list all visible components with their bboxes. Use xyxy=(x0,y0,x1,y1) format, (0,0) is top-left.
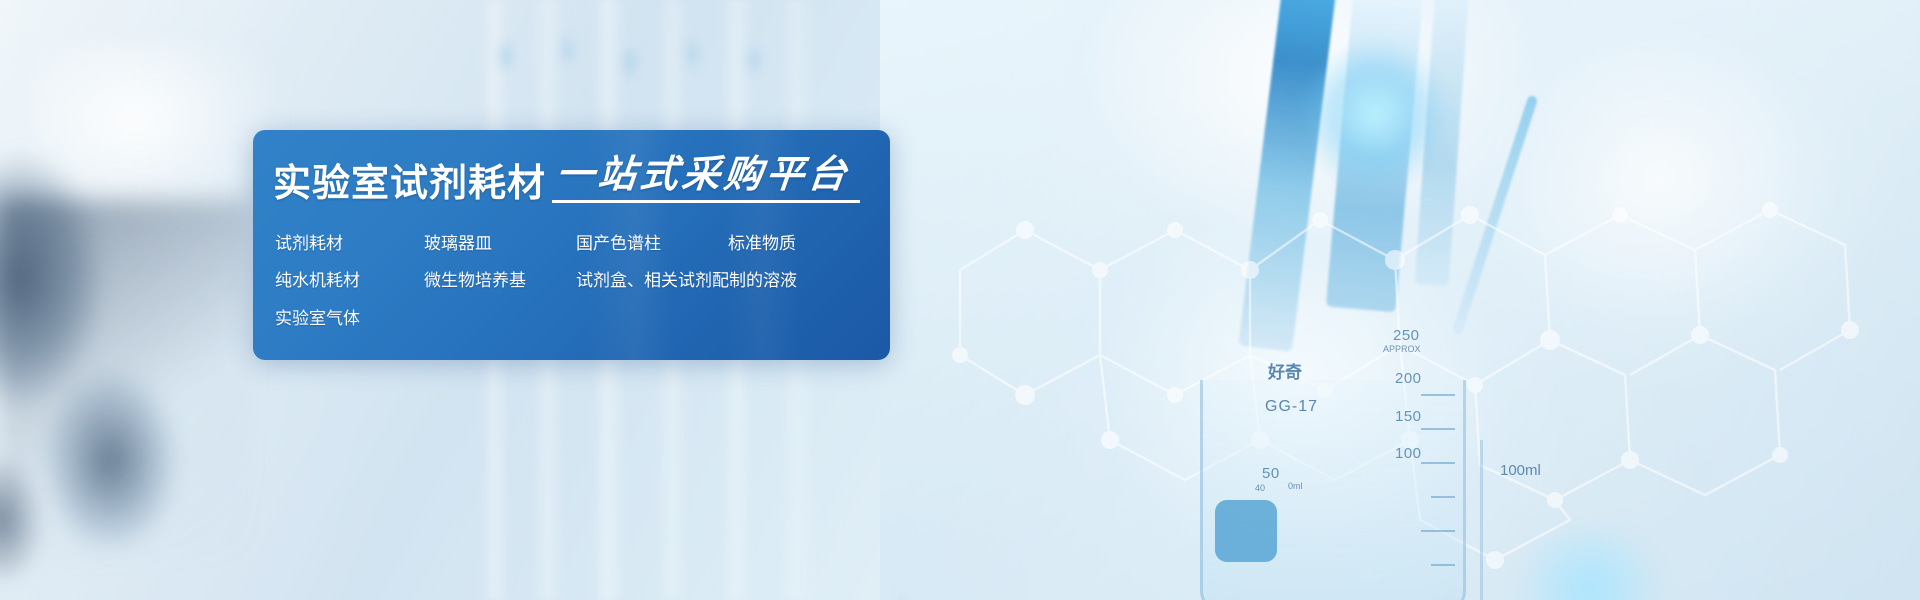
graduation-40: 40 xyxy=(1255,483,1265,493)
background-left-shadow xyxy=(0,200,250,560)
headline: 实验室试剂耗材 一站式采购平台 xyxy=(273,156,876,203)
graduation-200: 200 xyxy=(1395,370,1422,387)
background-tube-caps xyxy=(490,16,830,136)
link-reagent-consumables[interactable]: 试剂耗材 xyxy=(275,234,424,254)
link-row: 试剂耗材 玻璃器皿 国产色谱柱 标准物质 xyxy=(275,234,874,254)
headline-script-wrap: 一站式采购平台 xyxy=(556,156,850,203)
graduation-approx: APPROX xyxy=(1383,344,1421,354)
link-reference-materials[interactable]: 标准物质 xyxy=(728,234,796,254)
beaker-graduated xyxy=(1200,380,1466,600)
category-link-list: 试剂耗材 玻璃器皿 国产色谱柱 标准物质 纯水机耗材 微生物培养基 试剂盒、相关… xyxy=(275,234,874,346)
beaker-capacity-label: 100ml xyxy=(1500,462,1541,479)
link-row: 纯水机耗材 微生物培养基 试剂盒、相关试剂配制的溶液 xyxy=(275,271,874,291)
promo-panel: 实验室试剂耗材 一站式采购平台 试剂耗材 玻璃器皿 国产色谱柱 标准物质 纯水机… xyxy=(253,130,890,360)
headline-script: 一站式采购平台 xyxy=(554,156,852,194)
link-row: 实验室气体 xyxy=(275,309,874,329)
beaker-brand-label: 好奇 xyxy=(1268,358,1302,383)
link-domestic-chromatography-column[interactable]: 国产色谱柱 xyxy=(576,234,728,254)
graduation-250: 250 xyxy=(1393,327,1420,344)
link-laboratory-gases[interactable]: 实验室气体 xyxy=(275,309,424,329)
graduation-100: 100 xyxy=(1395,445,1422,462)
graduation-0ml: 0ml xyxy=(1288,481,1303,491)
link-reagent-kits-solutions[interactable]: 试剂盒、相关试剂配制的溶液 xyxy=(576,271,797,291)
headline-primary: 实验室试剂耗材 xyxy=(273,165,546,203)
headline-underline xyxy=(552,200,860,203)
graduation-50: 50 xyxy=(1262,465,1280,482)
link-glassware[interactable]: 玻璃器皿 xyxy=(424,234,576,254)
graduation-150: 150 xyxy=(1395,408,1422,425)
link-microbial-culture-media[interactable]: 微生物培养基 xyxy=(424,271,576,291)
beaker-label-square xyxy=(1215,500,1277,562)
link-water-purifier-consumables[interactable]: 纯水机耗材 xyxy=(275,271,424,291)
beaker-code-label: GG-17 xyxy=(1265,398,1318,416)
hero-banner: 250 APPROX 200 150 100 50 40 0ml 好奇 GG-1… xyxy=(0,0,1920,600)
